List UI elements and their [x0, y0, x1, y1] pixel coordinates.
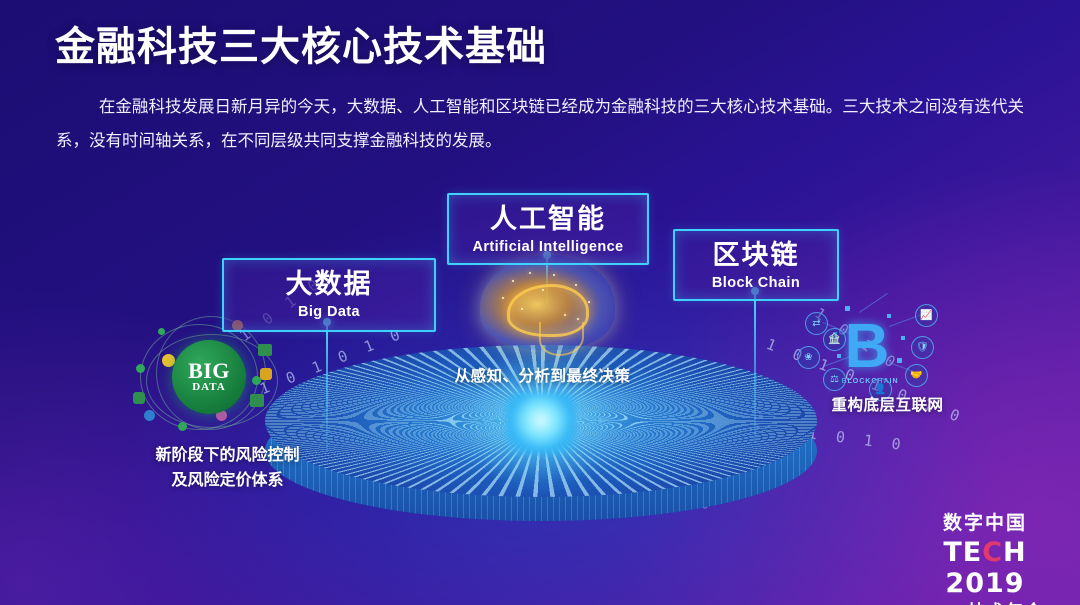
- disc-core-light: [506, 392, 576, 454]
- growth-chart-icon: 📈: [915, 304, 938, 327]
- logo-tech-pre: TE: [943, 537, 982, 568]
- big-data-badge-primary: BIG: [188, 361, 230, 382]
- label-box-big-data[interactable]: 大数据 Big Data: [222, 258, 436, 332]
- label-box-block-chain[interactable]: 区块链 Block Chain: [673, 229, 839, 301]
- connector-stem-big-data: [326, 322, 328, 452]
- label-box-block-chain-en: Block Chain: [675, 275, 837, 291]
- node-dot-icon: [144, 410, 155, 421]
- bank-icon: 🏦: [823, 328, 846, 351]
- scales-icon: ⚖: [823, 368, 846, 391]
- slide-canvas: 金融科技三大核心技术基础 在金融科技发展日新月异的今天，大数据、人工智能和区块链…: [0, 0, 1080, 605]
- caption-big-data-line1: 新阶段下的风险控制: [105, 443, 350, 468]
- caption-artificial-intelligence: 从感知、分析到最终决策: [435, 364, 650, 386]
- leaf-icon: ❀: [797, 346, 820, 369]
- intro-paragraph: 在金融科技发展日新月异的今天，大数据、人工智能和区块链已经成为金融科技的三大核心…: [56, 90, 1024, 158]
- caption-big-data: 新阶段下的风险控制 及风险定价体系: [105, 443, 350, 493]
- logo-tech-mark: C: [982, 537, 1003, 568]
- big-data-icon-cluster: BIG DATA: [132, 318, 282, 436]
- brain-illustration: [480, 255, 615, 350]
- blockchain-icon-cluster: B BLOCKCHAIN ❀ ⇄ ⚖ 🏦 📈 🛡 🤝 👤: [793, 300, 945, 404]
- node-dot-icon: [158, 328, 165, 335]
- label-box-artificial-intelligence[interactable]: 人工智能 Artificial Intelligence: [447, 193, 649, 265]
- event-logo: 数字中国 TECH 2019 技术年会: [905, 508, 1065, 600]
- caption-block-chain: 重构底层互联网: [800, 393, 975, 415]
- label-box-block-chain-cn: 区块链: [675, 241, 837, 271]
- logo-line-digital-china: 数字中国: [905, 508, 1065, 535]
- label-box-ai-en: Artificial Intelligence: [449, 239, 647, 255]
- node-dot-icon: [178, 422, 187, 431]
- connector-stem-block-chain: [754, 291, 756, 441]
- logo-line-tech-2019: TECH 2019: [905, 537, 1065, 599]
- document-icon: [133, 392, 145, 404]
- big-data-badge: BIG DATA: [172, 340, 246, 414]
- page-title: 金融科技三大核心技术基础: [55, 14, 547, 72]
- lock-icon: [260, 368, 272, 380]
- node-dot-icon: [136, 364, 145, 373]
- big-data-badge-secondary: DATA: [192, 381, 226, 393]
- chart-icon: [250, 394, 264, 407]
- logo-line-annual-conference: 技术年会: [905, 597, 1065, 605]
- handshake-icon: 🤝: [905, 364, 928, 387]
- label-box-big-data-en: Big Data: [224, 304, 434, 320]
- shield-icon: 🛡: [911, 336, 934, 359]
- label-box-big-data-cn: 大数据: [224, 270, 434, 300]
- caption-big-data-line2: 及风险定价体系: [105, 468, 350, 493]
- blockchain-b-icon: B: [839, 310, 895, 384]
- label-box-ai-cn: 人工智能: [449, 205, 647, 235]
- calculator-icon: [258, 344, 272, 356]
